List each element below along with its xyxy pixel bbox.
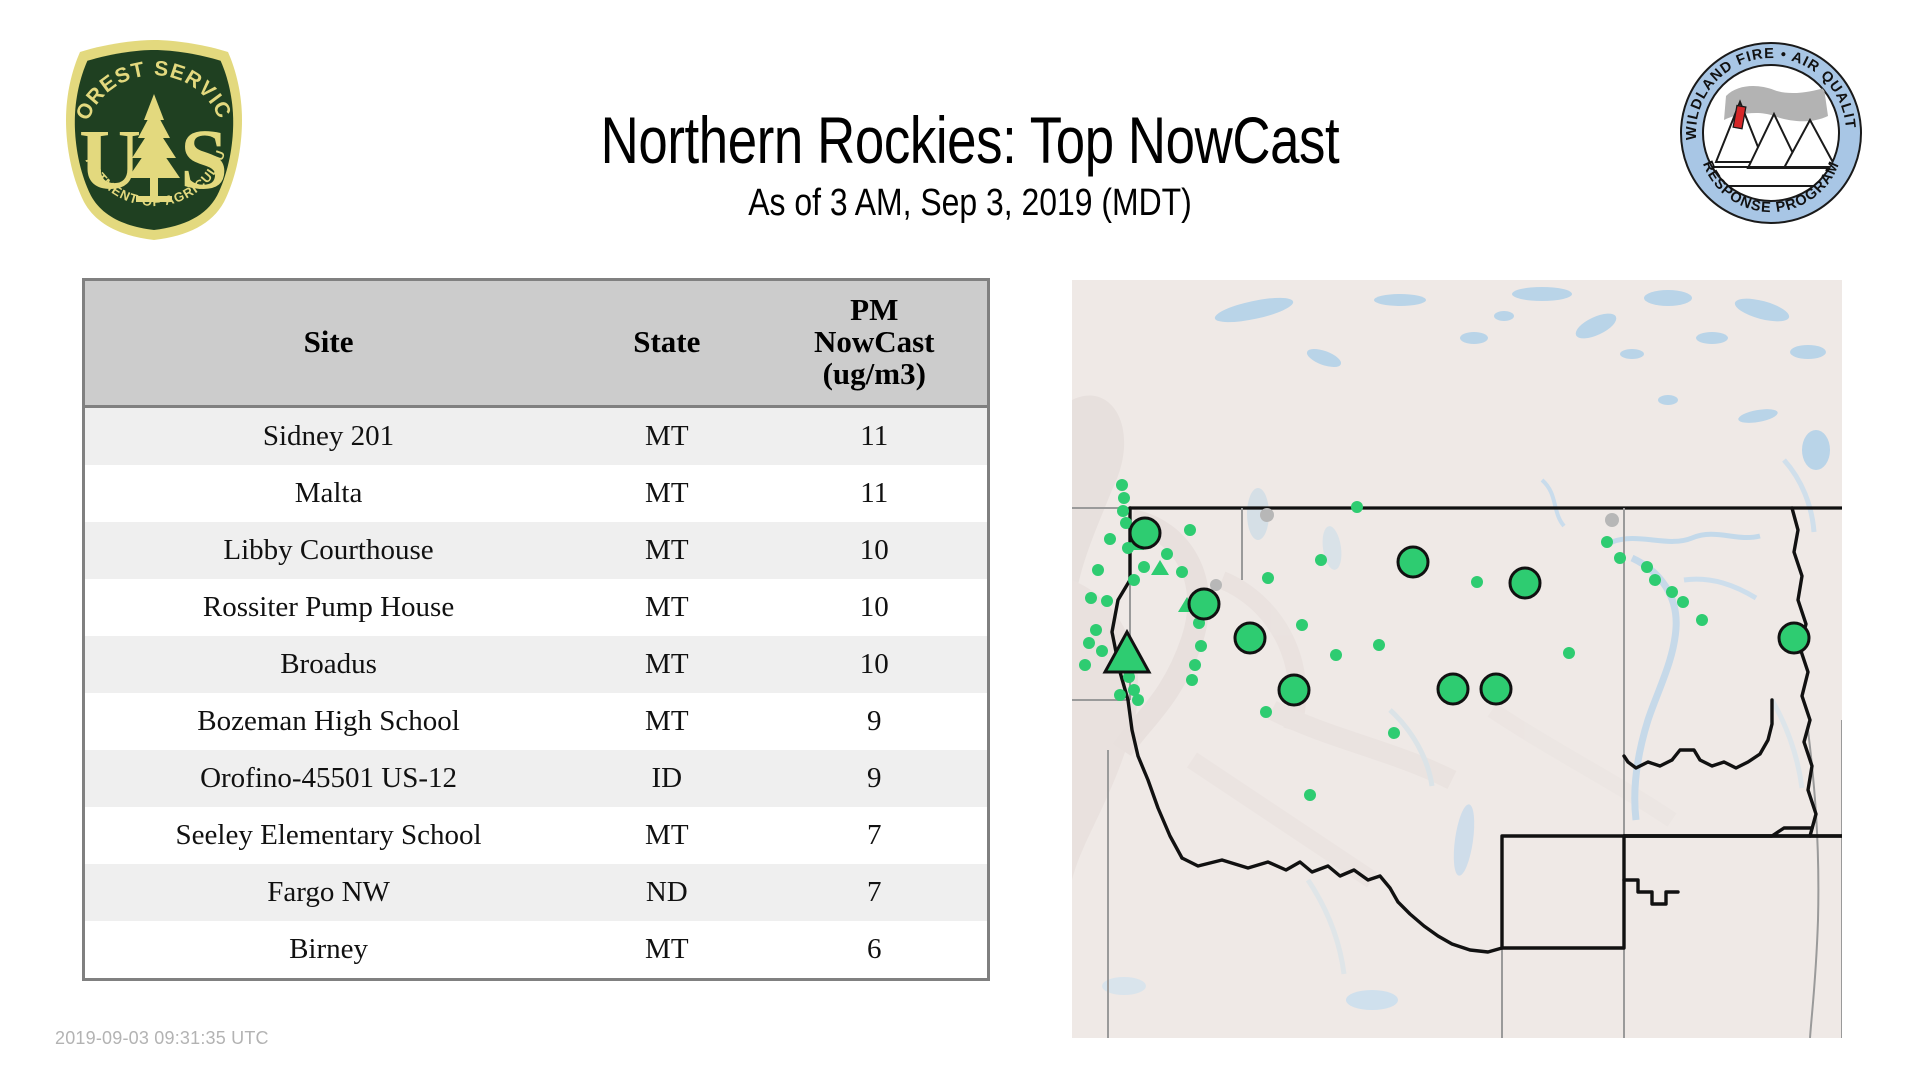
wfaqrp-logo: WILDLAND FIRE • AIR QUALITY RESPONSE PRO… — [1678, 40, 1864, 226]
map-marker-sidney-201 — [1510, 568, 1540, 598]
cell-pm: 9 — [761, 693, 987, 750]
cell-state: MT — [572, 807, 761, 864]
cell-state: MT — [572, 636, 761, 693]
cell-site: Sidney 201 — [85, 407, 572, 466]
page-subtitle: As of 3 AM, Sep 3, 2019 (MDT) — [407, 182, 1533, 225]
cell-site: Fargo NW — [85, 864, 572, 921]
table-header-row: Site State PM NowCast (ug/m3) — [85, 281, 987, 407]
map-marker-bozeman-high-school — [1235, 623, 1265, 653]
table-row: Seeley Elementary School MT 7 — [85, 807, 987, 864]
generation-timestamp: 2019-09-03 09:31:35 UTC — [55, 1028, 269, 1049]
map-marker-orofino-45501-us-12 — [1481, 674, 1511, 704]
cell-site: Seeley Elementary School — [85, 807, 572, 864]
cell-site: Bozeman High School — [85, 693, 572, 750]
cell-pm: 7 — [761, 864, 987, 921]
cell-state: ND — [572, 864, 761, 921]
table-row: Fargo NW ND 7 — [85, 864, 987, 921]
cell-state: MT — [572, 921, 761, 978]
table-header: Site State PM NowCast (ug/m3) — [85, 281, 987, 407]
table-row: Malta MT 11 — [85, 465, 987, 522]
header-line: (ug/m3) — [823, 356, 926, 391]
cell-pm: 9 — [761, 750, 987, 807]
map-marker-rossiter-pump-house — [1189, 589, 1219, 619]
header: FOREST SERVICE DEPARTMENT OF AGRICULTURE… — [0, 0, 1920, 272]
map-marker-birney — [1279, 675, 1309, 705]
header-line: PM — [850, 292, 898, 327]
header-line: Site — [304, 324, 354, 359]
cell-state: MT — [572, 522, 761, 579]
page-title: Northern Rockies: Top NowCast — [434, 102, 1506, 178]
cell-site: Birney — [85, 921, 572, 978]
table-row: Birney MT 6 — [85, 921, 987, 978]
cell-pm: 6 — [761, 921, 987, 978]
usfs-shield-logo: FOREST SERVICE DEPARTMENT OF AGRICULTURE… — [58, 36, 250, 244]
cell-pm: 10 — [761, 579, 987, 636]
cell-site: Libby Courthouse — [85, 522, 572, 579]
nowcast-table: Site State PM NowCast (ug/m3) Sidney 201… — [85, 281, 987, 978]
map-marker-fargo-nw — [1779, 623, 1809, 653]
column-header-site: Site — [85, 281, 572, 407]
nowcast-table-container: Site State PM NowCast (ug/m3) Sidney 201… — [82, 278, 990, 981]
table-row: Orofino-45501 US-12 ID 9 — [85, 750, 987, 807]
map-marker-malta — [1398, 547, 1428, 577]
column-header-state: State — [572, 281, 761, 407]
map-marker-libby-courthouse — [1130, 518, 1160, 548]
cell-pm: 11 — [761, 407, 987, 466]
map-marker-broadus — [1438, 674, 1468, 704]
cell-state: MT — [572, 579, 761, 636]
table-body: Sidney 201 MT 11 Malta MT 11 Libby Court… — [85, 407, 987, 979]
header-line: State — [633, 324, 700, 359]
map-canvas — [1072, 280, 1842, 1038]
cell-pm: 7 — [761, 807, 987, 864]
cell-site: Broadus — [85, 636, 572, 693]
cell-state: MT — [572, 693, 761, 750]
cell-state: ID — [572, 750, 761, 807]
cell-pm: 10 — [761, 636, 987, 693]
table-row: Broadus MT 10 — [85, 636, 987, 693]
cell-site: Rossiter Pump House — [85, 579, 572, 636]
table-row: Bozeman High School MT 9 — [85, 693, 987, 750]
cell-state: MT — [572, 407, 761, 466]
air-quality-map[interactable]: Air Quality Index Hazardous Very Unhealt… — [1072, 280, 1842, 1038]
cell-site: Orofino-45501 US-12 — [85, 750, 572, 807]
usfs-letter-u: U — [79, 111, 141, 207]
cell-pm: 10 — [761, 522, 987, 579]
cell-site: Malta — [85, 465, 572, 522]
usfs-letter-s: S — [180, 111, 228, 207]
header-line: NowCast — [814, 324, 935, 359]
table-row: Libby Courthouse MT 10 — [85, 522, 987, 579]
cell-pm: 11 — [761, 465, 987, 522]
cell-state: MT — [572, 465, 761, 522]
table-row: Sidney 201 MT 11 — [85, 407, 987, 466]
table-row: Rossiter Pump House MT 10 — [85, 579, 987, 636]
column-header-pm-nowcast: PM NowCast (ug/m3) — [761, 281, 987, 407]
